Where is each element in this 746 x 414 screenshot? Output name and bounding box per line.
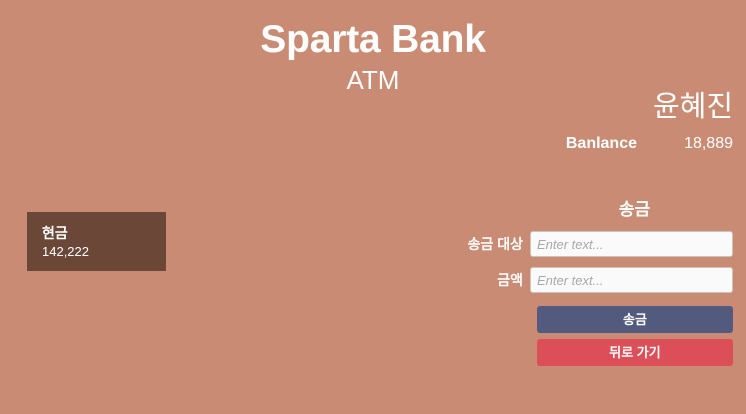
account-summary: 윤혜진 Banlance 18,889 xyxy=(433,89,733,154)
transfer-submit-button[interactable]: 송금 xyxy=(537,306,733,333)
cash-card[interactable]: 현금 142,222 xyxy=(27,212,166,271)
go-back-button[interactable]: 뒤로 가기 xyxy=(537,339,733,366)
cash-card-value: 142,222 xyxy=(42,243,166,260)
balance-row: Banlance 18,889 xyxy=(433,134,733,154)
transfer-target-input[interactable] xyxy=(530,231,733,257)
cash-card-label: 현금 xyxy=(42,224,166,242)
transfer-amount-row: 금액 xyxy=(452,267,733,293)
balance-value: 18,889 xyxy=(637,134,733,154)
transfer-panel: 송금 송금 대상 금액 송금 뒤로 가기 xyxy=(452,199,733,366)
page-header: Sparta Bank ATM xyxy=(0,0,746,96)
transfer-heading: 송금 xyxy=(452,199,733,221)
transfer-target-row: 송금 대상 xyxy=(452,231,733,257)
account-holder-name: 윤혜진 xyxy=(433,89,733,125)
transfer-amount-input[interactable] xyxy=(530,267,733,293)
transfer-amount-label: 금액 xyxy=(452,271,530,289)
transfer-target-label: 송금 대상 xyxy=(452,235,530,253)
bank-title: Sparta Bank xyxy=(0,17,746,63)
balance-label: Banlance xyxy=(566,134,637,154)
